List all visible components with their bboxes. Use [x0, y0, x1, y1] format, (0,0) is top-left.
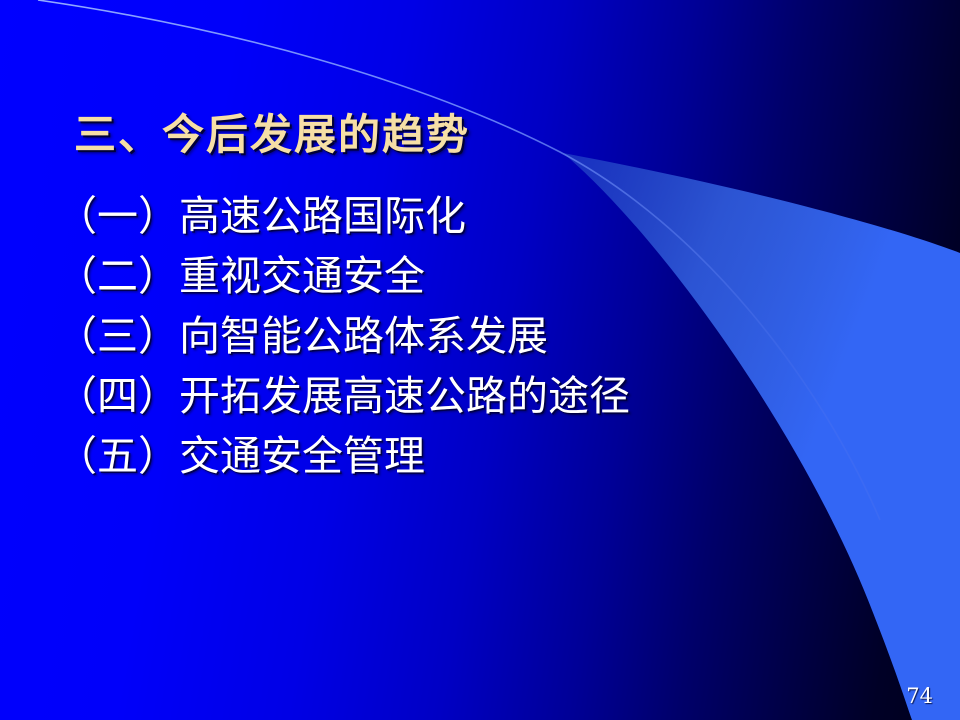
slide-content: 三、今后发展的趋势 （一）高速公路国际化 （二）重视交通安全 （三）向智能公路体… — [0, 0, 960, 720]
list-item: （二）重视交通安全 — [56, 246, 896, 306]
list-item: （三）向智能公路体系发展 — [56, 306, 896, 366]
list-item: （一）高速公路国际化 — [56, 186, 896, 246]
list-item: （四）开拓发展高速公路的途径 — [56, 366, 896, 426]
list-item: （五）交通安全管理 — [56, 426, 896, 486]
slide-title: 三、今后发展的趋势 — [74, 110, 470, 160]
presentation-slide: 三、今后发展的趋势 （一）高速公路国际化 （二）重视交通安全 （三）向智能公路体… — [0, 0, 960, 720]
page-number: 74 — [906, 684, 933, 708]
bullet-list: （一）高速公路国际化 （二）重视交通安全 （三）向智能公路体系发展 （四）开拓发… — [56, 186, 896, 486]
